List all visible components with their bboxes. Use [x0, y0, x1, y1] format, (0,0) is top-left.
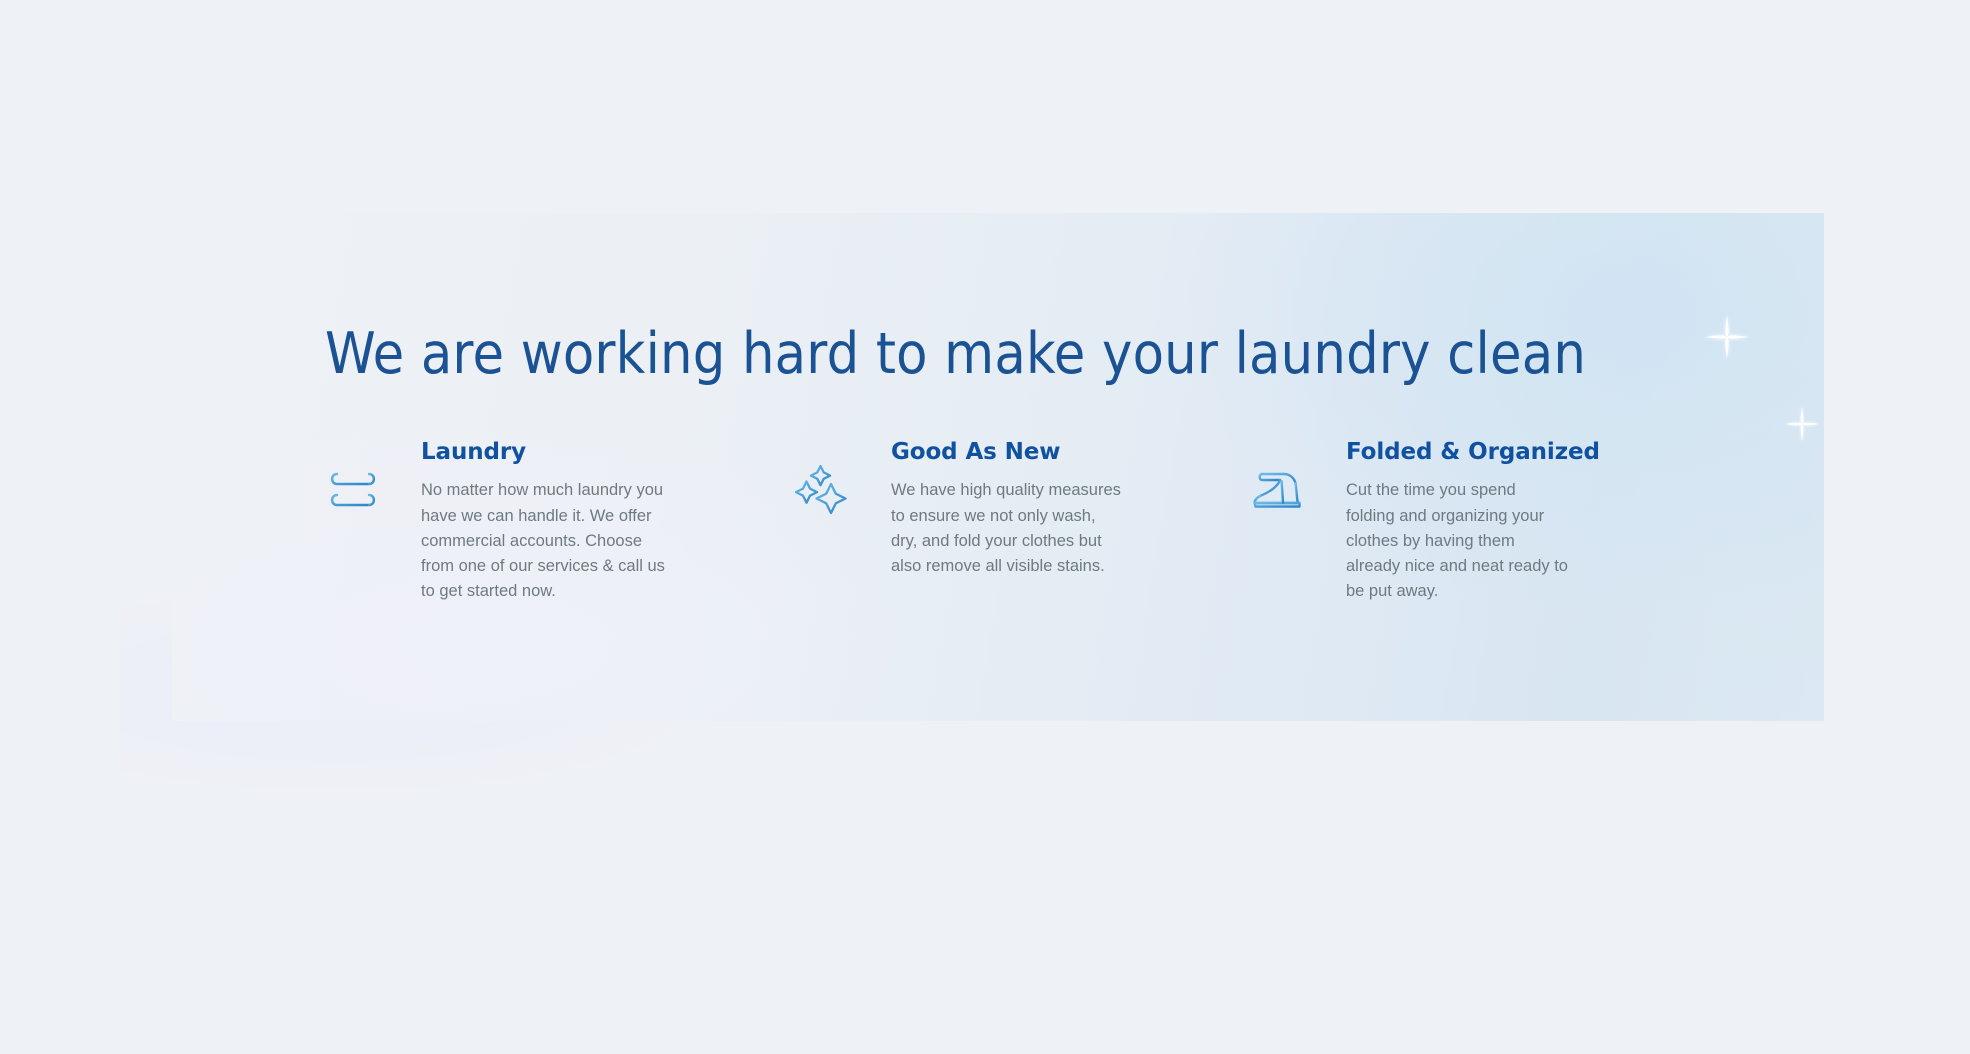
clothes-iron-icon: [1250, 440, 1346, 518]
folded-towels-icon: [325, 440, 421, 518]
feature-list: Laundry No matter how much laundry you h…: [325, 440, 1705, 604]
sparkle-decor-2-icon: [1783, 405, 1821, 443]
feature-copy: Folded & Organized Cut the time you spen…: [1346, 440, 1705, 604]
feature-item-good-as-new: Good As New We have high quality measure…: [795, 440, 1250, 604]
sparkles-icon: [795, 440, 891, 518]
feature-description: Cut the time you spend folding and organ…: [1346, 478, 1568, 604]
feature-item-laundry: Laundry No matter how much laundry you h…: [325, 440, 795, 604]
feature-copy: Good As New We have high quality measure…: [891, 440, 1250, 579]
feature-title: Folded & Organized: [1346, 440, 1681, 465]
feature-title: Laundry: [421, 440, 771, 465]
feature-description: We have high quality measures to ensure …: [891, 478, 1123, 579]
feature-title: Good As New: [891, 440, 1226, 465]
feature-description: No matter how much laundry you have we c…: [421, 478, 667, 604]
feature-item-folded-organized: Folded & Organized Cut the time you spen…: [1250, 440, 1705, 604]
page-title: We are working hard to make your laundry…: [325, 322, 1586, 388]
page-root: We are working hard to make your laundry…: [0, 0, 1970, 1054]
sparkle-decor-1-icon: [1703, 313, 1751, 361]
feature-copy: Laundry No matter how much laundry you h…: [421, 440, 795, 604]
